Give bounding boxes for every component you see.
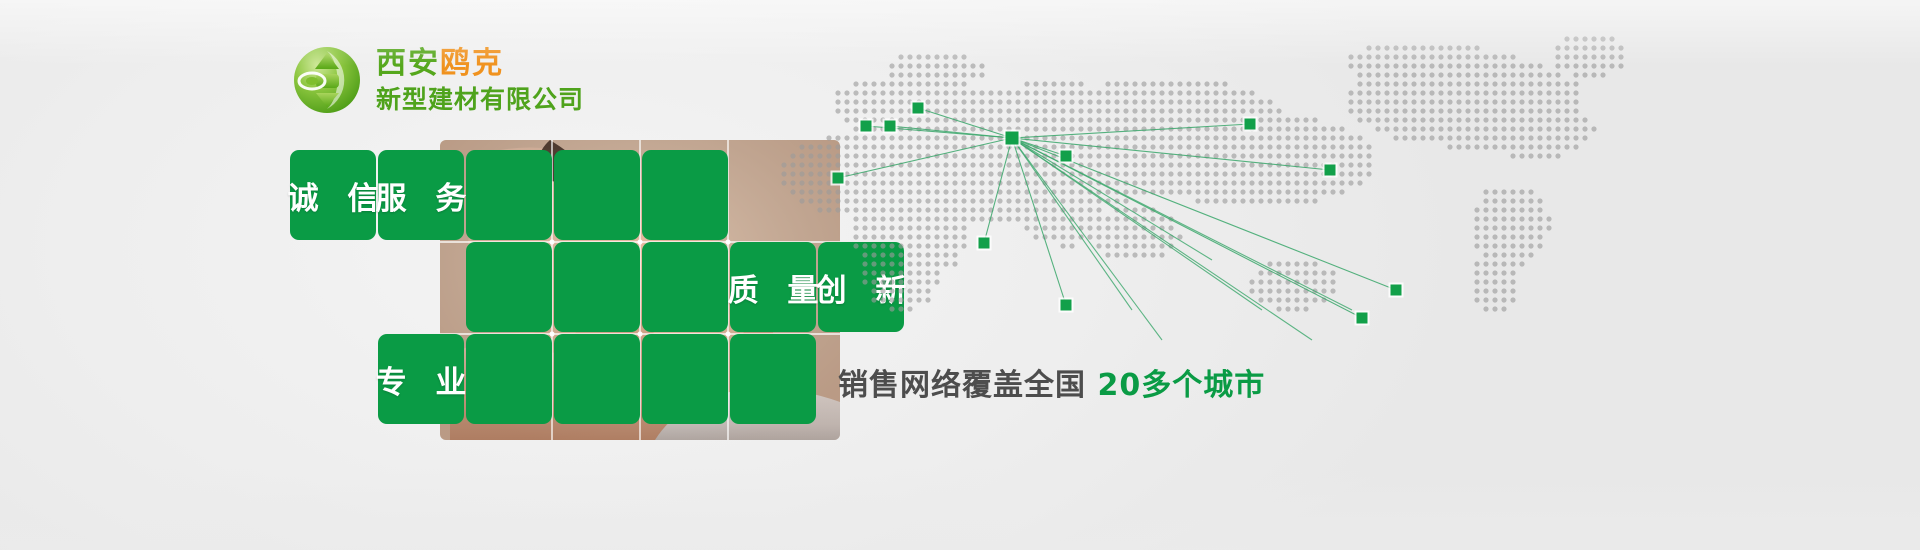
- company-logo[interactable]: 西安鸥克 新型建材有限公司: [292, 45, 584, 115]
- map-city-node[interactable]: [1245, 119, 1256, 130]
- map-city-nodes: [831, 101, 1404, 326]
- value-tile-blank-12[interactable]: [554, 334, 640, 424]
- map-city-node[interactable]: [1061, 151, 1072, 162]
- value-tile-blank-4[interactable]: [642, 150, 728, 240]
- logo-title-prefix: 西安: [376, 46, 440, 81]
- map-city-node[interactable]: [1061, 300, 1072, 311]
- map-city-node[interactable]: [885, 121, 896, 132]
- globe-icon: [292, 45, 362, 115]
- slogan-text-highlight: 20多个城市: [1097, 368, 1265, 403]
- world-dot-map: [735, 10, 1695, 350]
- logo-title-line: 西安鸥克: [376, 49, 584, 79]
- map-dot-field: [781, 36, 1623, 311]
- map-link: [1012, 124, 1250, 138]
- value-tile-10[interactable]: 专 业: [378, 334, 464, 424]
- slogan-text-primary: 销售网络覆盖全国: [838, 368, 1086, 403]
- value-tile-blank-3[interactable]: [554, 150, 640, 240]
- logo-title-brand: 鸥克: [440, 46, 504, 81]
- value-tile-blank-5[interactable]: [466, 242, 552, 332]
- value-tile-blank-7[interactable]: [642, 242, 728, 332]
- map-city-node[interactable]: [979, 238, 990, 249]
- value-tile-label: 专 业: [367, 357, 476, 402]
- map-hub-node[interactable]: [1006, 132, 1019, 145]
- value-tile-blank-13[interactable]: [642, 334, 728, 424]
- promo-banner: 诚 信服 务质 量创 新专 业: [0, 0, 1920, 550]
- map-city-node[interactable]: [1357, 313, 1368, 324]
- value-tile-0[interactable]: 诚 信: [290, 150, 376, 240]
- map-city-node[interactable]: [1391, 285, 1402, 296]
- network-slogan: 销售网络覆盖全国 20多个城市: [838, 360, 1265, 404]
- map-dots-path: [781, 36, 1623, 311]
- company-globe-logo: [292, 45, 362, 115]
- map-city-node[interactable]: [1325, 165, 1336, 176]
- logo-subtitle: 新型建材有限公司: [376, 87, 584, 112]
- map-connection-lines: [838, 108, 1396, 340]
- world-map-svg: [735, 10, 1695, 350]
- value-tile-blank-11[interactable]: [466, 334, 552, 424]
- map-city-node[interactable]: [861, 121, 872, 132]
- map-city-node[interactable]: [913, 103, 924, 114]
- value-tile-1[interactable]: 服 务: [378, 150, 464, 240]
- map-city-node[interactable]: [833, 173, 844, 184]
- value-tile-blank-2[interactable]: [466, 150, 552, 240]
- map-link: [1012, 138, 1066, 305]
- value-tile-blank-6[interactable]: [554, 242, 640, 332]
- value-tile-label: 服 务: [367, 173, 476, 218]
